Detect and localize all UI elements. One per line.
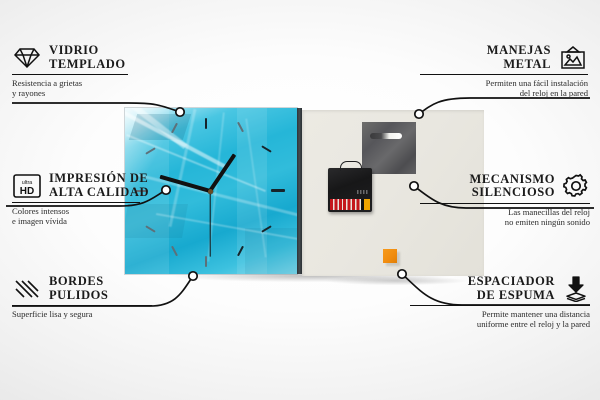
feature-heading: ESPACIADOR DE ESPUMA [410, 275, 590, 302]
feature-title: MANEJAS METAL [487, 44, 551, 71]
feature-description: Colores intensos e imagen vívida [12, 206, 182, 227]
metal-hanger-plate [362, 122, 416, 174]
ultra-hd-icon: ultra HD [12, 173, 42, 199]
feature-heading: BORDES PULIDOS [12, 275, 182, 302]
infographic-canvas: VIDRIO TEMPLADO Resistencia a grietas y … [0, 0, 600, 400]
label-orange-tab [364, 199, 370, 210]
clock-center-pin [208, 189, 213, 194]
feature-divider [12, 74, 128, 75]
wall-hanger-icon [558, 45, 588, 71]
gear-icon [562, 172, 590, 200]
mechanism-label [330, 199, 370, 210]
feature-description: Permiten una fácil instalación del reloj… [420, 78, 588, 99]
feature-espaciador-de-espuma: ESPACIADOR DE ESPUMA Permite mantener un… [410, 275, 590, 330]
foam-spacer-icon [562, 276, 590, 302]
feature-divider [12, 202, 140, 203]
foam-spacer [383, 249, 397, 263]
feature-description: Superficie lisa y segura [12, 309, 182, 319]
feature-title: MECANISMO SILENCIOSO [469, 173, 555, 200]
feature-heading: MANEJAS METAL [420, 44, 588, 71]
feature-heading: ultra HD IMPRESIÓN DE ALTA CALIDAD [12, 172, 182, 199]
second-hand [209, 191, 210, 257]
feature-description: Las manecillas del reloj no emiten ningú… [420, 207, 590, 228]
feature-heading: VIDRIO TEMPLADO [12, 44, 172, 71]
feature-title: IMPRESIÓN DE ALTA CALIDAD [49, 172, 149, 199]
feature-heading: MECANISMO SILENCIOSO [420, 172, 590, 200]
feature-bordes-pulidos: BORDES PULIDOS Superficie lisa y segura [12, 275, 182, 319]
feature-title: ESPACIADOR DE ESPUMA [468, 275, 555, 302]
hanger-keyhole-slot [370, 133, 402, 139]
feature-divider [420, 203, 590, 204]
mechanism-hanging-loop [340, 161, 362, 171]
feature-impresion-alta-calidad: ultra HD IMPRESIÓN DE ALTA CALIDAD Color… [12, 172, 182, 227]
feature-vidrio-templado: VIDRIO TEMPLADO Resistencia a grietas y … [12, 44, 172, 99]
feature-mecanismo-silencioso: MECANISMO SILENCIOSO Las manecillas del … [420, 172, 590, 228]
feature-title: VIDRIO TEMPLADO [49, 44, 126, 71]
feature-divider [420, 74, 588, 75]
clock-mechanism [328, 168, 372, 212]
mechanism-vents [357, 190, 369, 194]
feature-description: Resistencia a grietas y rayones [12, 78, 172, 99]
svg-text:HD: HD [20, 186, 34, 197]
feature-divider [12, 305, 152, 306]
polished-edges-icon [12, 277, 42, 301]
feature-description: Permite mantener una distancia uniforme … [410, 309, 590, 330]
feature-manejas-metal: MANEJAS METAL Permiten una fácil instala… [420, 44, 588, 99]
diamond-icon [12, 46, 42, 70]
glass-edge [297, 108, 302, 274]
feature-title: BORDES PULIDOS [49, 275, 108, 302]
hour-hand [208, 153, 236, 192]
feature-divider [410, 305, 590, 306]
